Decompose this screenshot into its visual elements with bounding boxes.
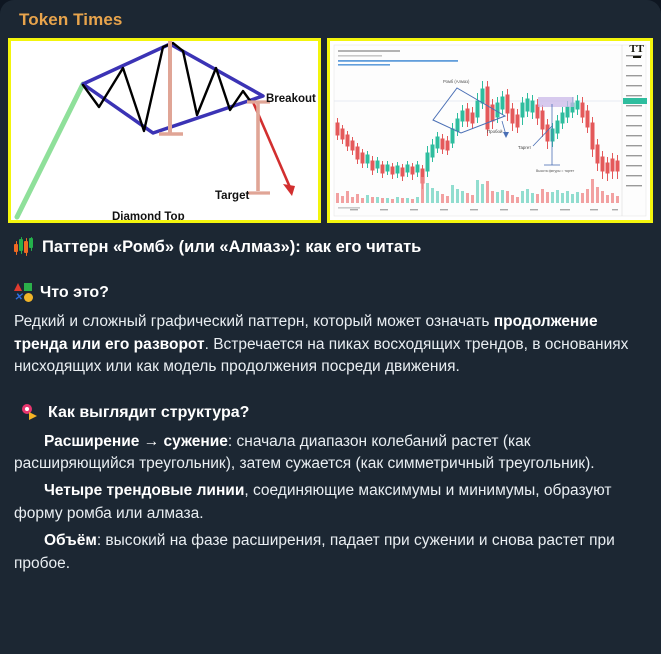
diamond-top-caption: Diamond Top xyxy=(112,211,185,220)
post-title-line: Паттерн «Ромб» (или «Алмаз»): как его чи… xyxy=(14,235,647,259)
media-row: Breakout Target Diamond Top xyxy=(0,38,661,223)
tt-watermark: TT xyxy=(629,44,644,58)
channel-title[interactable]: Token Times xyxy=(19,11,122,28)
section-heading-text: Что это? xyxy=(40,281,109,305)
candlestick-chart-emoji xyxy=(14,237,35,256)
post-body: Паттерн «Ромб» (или «Алмаз»): как его чи… xyxy=(0,223,661,575)
run-text: Редкий и сложный графический паттерн, ко… xyxy=(14,313,494,330)
target-label: Target xyxy=(215,190,249,202)
paragraph-expansion-contraction: Расширение → сужение: сначала диапазон к… xyxy=(14,431,647,477)
channel-header: Token Times xyxy=(0,0,661,38)
svg-text:Высота фигуры = таргет: Высота фигуры = таргет xyxy=(536,169,575,173)
run-text-bold: Расширение → сужение xyxy=(44,433,228,450)
comet-emoji xyxy=(22,404,41,421)
media-left-diamond-diagram[interactable]: Breakout Target Diamond Top xyxy=(8,38,321,223)
section-heading-what-is-it: ✕ Что это? xyxy=(14,281,647,305)
post-title-text: Паттерн «Ромб» (или «Алмаз»): как его чи… xyxy=(42,235,421,259)
paragraph-what-is-it: Редкий и сложный графический паттерн, ко… xyxy=(14,311,647,379)
paragraph-four-trendlines: Четыре трендовые линии, соединяющие макс… xyxy=(14,480,647,526)
tt-underline xyxy=(633,56,641,58)
candlestick-chart-inner: Ромб (Алмаз) Пробой Таргет Высота фигуры… xyxy=(330,41,650,220)
input-symbols-emoji: ✕ xyxy=(14,283,33,302)
diamond-top-svg xyxy=(11,41,318,220)
run-text: : высокий на фазе расширения, падает при… xyxy=(14,532,615,572)
candlestick-chart-svg: Ромб (Алмаз) Пробой Таргет Высота фигуры… xyxy=(330,41,650,220)
svg-text:Пробой: Пробой xyxy=(487,129,503,134)
section-heading-structure: Как выглядит структура? xyxy=(22,401,647,425)
svg-text:Ромб (Алмаз): Ромб (Алмаз) xyxy=(443,79,470,84)
telegram-post-card: Token Times xyxy=(0,0,661,654)
diamond-diagram-inner: Breakout Target Diamond Top xyxy=(11,41,318,220)
paragraph-volume: Объём: высокий на фазе расширения, падае… xyxy=(14,530,647,576)
breakout-label: Breakout xyxy=(266,93,316,105)
svg-text:Таргет: Таргет xyxy=(518,145,531,150)
section-heading-text: Как выглядит структура? xyxy=(48,401,249,425)
run-text-bold: Четыре трендовые линии xyxy=(44,482,244,499)
media-right-candlestick-chart[interactable]: Ромб (Алмаз) Пробой Таргет Высота фигуры… xyxy=(327,38,653,223)
run-text-bold: Объём xyxy=(44,532,97,549)
